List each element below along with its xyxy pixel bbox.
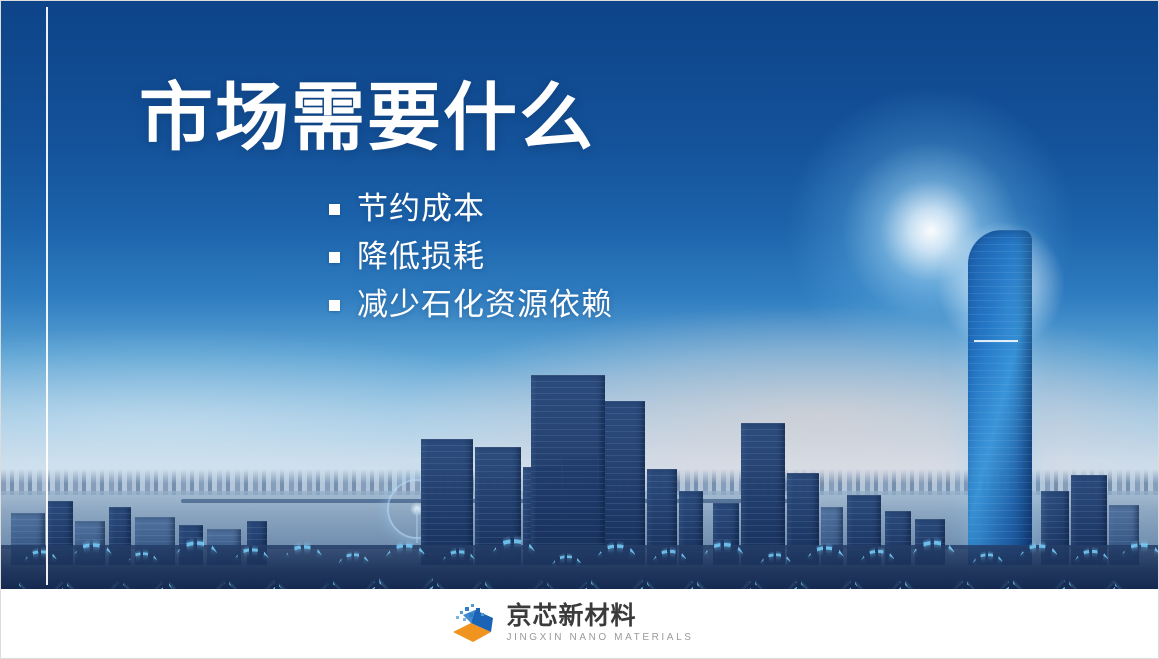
list-item-label: 降低损耗	[357, 239, 485, 275]
network-arc	[1115, 539, 1159, 591]
network-arc	[67, 539, 119, 591]
square-bullet-icon	[329, 204, 340, 215]
list-item: 节约成本	[329, 191, 613, 227]
network-arc	[333, 551, 375, 591]
network-arc	[647, 547, 693, 591]
list-item-label: 节约成本	[357, 191, 485, 227]
network-arc	[591, 541, 643, 591]
company-logo: 京芯新材料 JINGXIN NANO MATERIALS	[449, 603, 693, 644]
left-accent-line	[46, 7, 48, 585]
network-arc	[1013, 541, 1065, 591]
square-bullet-icon	[329, 300, 340, 311]
network-arc	[697, 539, 751, 591]
network-arc	[437, 547, 481, 591]
network-arc	[485, 535, 543, 591]
square-bullet-icon	[329, 252, 340, 263]
network-arc	[855, 547, 901, 591]
logo-name-cn: 京芯新材料	[506, 603, 693, 630]
list-item: 降低损耗	[329, 239, 613, 275]
list-item: 减少石化资源依赖	[329, 287, 613, 323]
logo-text-block: 京芯新材料 JINGXIN NANO MATERIALS	[506, 603, 693, 644]
network-arc	[123, 549, 163, 591]
network-arc	[229, 545, 275, 591]
list-item-label: 减少石化资源依赖	[357, 287, 613, 323]
logo-name-en: JINGXIN NANO MATERIALS	[506, 631, 693, 644]
slide-footer: 京芯新材料 JINGXIN NANO MATERIALS	[1, 589, 1159, 658]
presentation-slide: 市场需要什么 节约成本 降低损耗 减少石化资源依赖	[0, 0, 1159, 659]
network-arc	[1069, 547, 1115, 591]
network-arc	[905, 537, 963, 591]
slide-background-image: 市场需要什么 节约成本 降低损耗 减少石化资源依赖	[1, 1, 1159, 591]
network-arc	[967, 551, 1009, 591]
network-arc	[379, 541, 433, 591]
network-arc	[801, 543, 851, 591]
network-arc	[547, 553, 587, 591]
network-arc	[279, 541, 329, 591]
network-arc	[755, 551, 797, 591]
network-arc	[169, 537, 225, 591]
network-arc-overlay	[1, 499, 1159, 591]
network-arc	[19, 547, 63, 591]
page-title: 市场需要什么	[139, 81, 595, 155]
jingxin-logo-mark-icon	[449, 604, 495, 644]
bullet-list: 节约成本 降低损耗 减少石化资源依赖	[329, 191, 613, 335]
